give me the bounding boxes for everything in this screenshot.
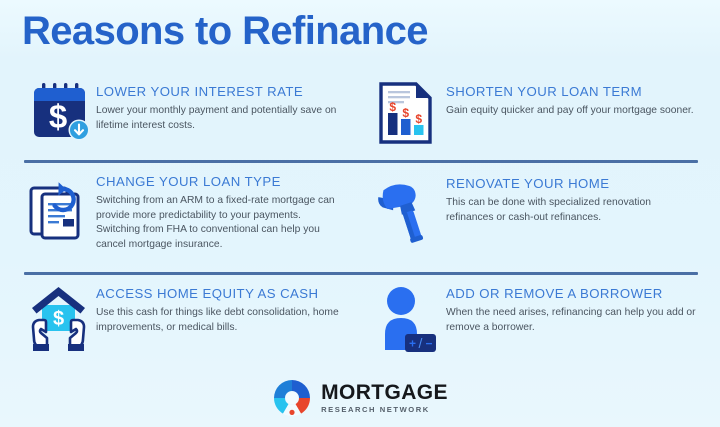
reason-item-access-home-equity: $ ACCESS HOME EQUITY AS CASH Use this ca…: [0, 272, 352, 364]
reason-item-change-loan-type: CHANGE YOUR LOAN TYPE Switching from an …: [0, 160, 352, 272]
reason-heading: SHORTEN YOUR LOAN TERM: [446, 84, 720, 99]
svg-text:$: $: [389, 100, 396, 114]
reasons-row: CHANGE YOUR LOAN TYPE Switching from an …: [0, 160, 720, 272]
gauge-logo-icon: [272, 378, 312, 418]
reason-body: Gain equity quicker and pay off your mor…: [446, 104, 700, 119]
reason-heading: LOWER YOUR INTEREST RATE: [96, 84, 352, 99]
reasons-row: $ ACCESS HOME EQUITY AS CASH Use this ca…: [0, 272, 720, 364]
infographic-canvas: Reasons to Refinance: [0, 0, 720, 427]
section-divider: [24, 272, 698, 275]
hammer-icon: [368, 160, 446, 234]
reason-heading: CHANGE YOUR LOAN TYPE: [96, 174, 352, 189]
reason-text: ADD OR REMOVE A BORROWER When the need a…: [446, 272, 720, 335]
svg-text:$: $: [49, 98, 67, 135]
calendar-dollar-down-icon: $: [22, 78, 96, 152]
reason-body: Switching from an ARM to a fixed-rate mo…: [96, 194, 344, 252]
reason-item-add-remove-borrower: + / − ADD OR REMOVE A BORROWER When the …: [352, 272, 720, 364]
logo-wordmark: MORTGAGE RESEARCH NETWORK: [321, 382, 448, 413]
svg-text:+: +: [409, 336, 416, 350]
reason-text: ACCESS HOME EQUITY AS CASH Use this cash…: [96, 272, 352, 335]
svg-text:−: −: [425, 336, 432, 350]
svg-text:$: $: [53, 308, 64, 330]
reason-heading: RENOVATE YOUR HOME: [446, 176, 720, 191]
reason-text: SHORTEN YOUR LOAN TERM Gain equity quick…: [446, 78, 720, 119]
document-descending-bar-chart-icon: $ $ $: [368, 78, 446, 152]
reasons-grid: $ LOWER YOUR INTEREST RATE Lower your mo…: [0, 78, 720, 364]
section-divider: [24, 160, 698, 163]
logo-main-text: MORTGAGE: [321, 382, 448, 403]
documents-swap-icon: [22, 160, 96, 234]
reason-body: This can be done with specialized renova…: [446, 196, 700, 225]
svg-text:/: /: [419, 335, 423, 351]
house-dollar-in-hands-icon: $: [22, 272, 96, 346]
page-title: Reasons to Refinance: [22, 8, 428, 55]
reason-heading: ADD OR REMOVE A BORROWER: [446, 286, 720, 301]
reason-body: Use this cash for things like debt conso…: [96, 306, 344, 335]
logo-sub-text: RESEARCH NETWORK: [321, 406, 448, 414]
reason-body: Lower your monthly payment and potential…: [96, 104, 344, 133]
reason-text: RENOVATE YOUR HOME This can be done with…: [446, 160, 720, 225]
reason-body: When the need arises, refinancing can he…: [446, 306, 700, 335]
reason-text: CHANGE YOUR LOAN TYPE Switching from an …: [96, 160, 352, 253]
svg-text:$: $: [402, 106, 409, 120]
svg-text:$: $: [415, 112, 422, 126]
reason-item-shorten-loan-term: $ $ $ SHORTEN YOUR LOAN TERM Gain equity…: [352, 78, 720, 160]
reasons-row: $ LOWER YOUR INTEREST RATE Lower your mo…: [0, 78, 720, 160]
reason-text: LOWER YOUR INTEREST RATE Lower your mont…: [96, 78, 352, 133]
reason-heading: ACCESS HOME EQUITY AS CASH: [96, 286, 352, 301]
reason-item-lower-interest-rate: $ LOWER YOUR INTEREST RATE Lower your mo…: [0, 78, 352, 160]
person-plus-minus-icon: + / −: [368, 272, 446, 346]
reason-item-renovate-home: RENOVATE YOUR HOME This can be done with…: [352, 160, 720, 272]
footer-logo: MORTGAGE RESEARCH NETWORK: [0, 378, 720, 418]
